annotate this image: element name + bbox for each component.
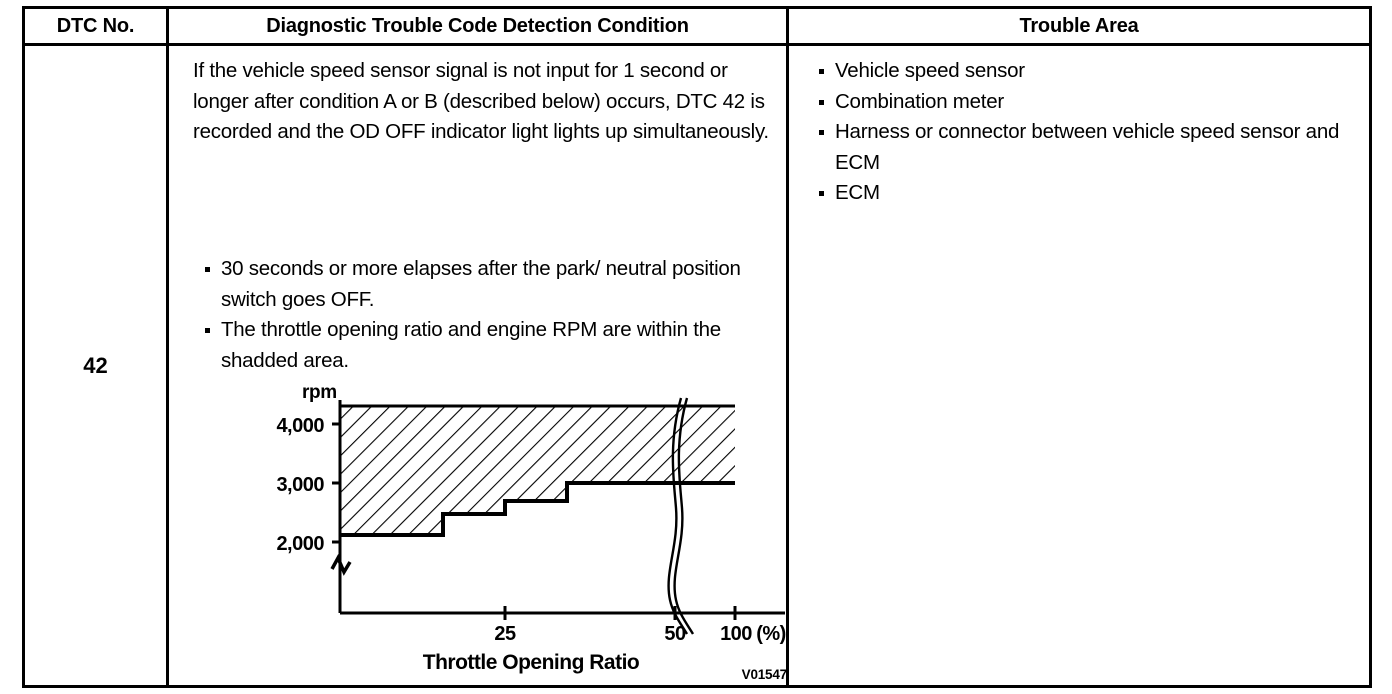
- dtc-table: DTC No. Diagnostic Trouble Code Detectio…: [22, 6, 1372, 688]
- list-item: The throttle opening ratio and engine RP…: [199, 315, 781, 376]
- list-item: Vehicle speed sensor: [813, 56, 1365, 87]
- list-item: ECM: [813, 178, 1365, 209]
- y-tick-label-3000: 3,000: [276, 474, 324, 496]
- x-tick-label-100: 100: [720, 623, 752, 645]
- table-header-row: DTC No. Diagnostic Trouble Code Detectio…: [25, 9, 1369, 46]
- cell-dtc-no: 42: [25, 46, 166, 685]
- detection-condition-bullets: 30 seconds or more elapses after the par…: [199, 254, 781, 376]
- dtc-number-value: 42: [83, 353, 107, 379]
- cell-detection-condition: If the vehicle speed sensor signal is no…: [166, 46, 786, 685]
- list-item: 30 seconds or more elapses after the par…: [199, 254, 781, 315]
- cell-trouble-area: Vehicle speed sensor Combination meter H…: [786, 46, 1369, 685]
- trouble-area-list: Vehicle speed sensor Combination meter H…: [813, 56, 1365, 209]
- y-tick-label-2000: 2,000: [276, 533, 324, 555]
- x-tick-label-25: 25: [494, 623, 516, 645]
- header-trouble-area: Trouble Area: [786, 9, 1369, 43]
- list-item: Combination meter: [813, 87, 1365, 118]
- chart-xlabel: Throttle Opening Ratio: [423, 651, 639, 674]
- chart-svg: rpm: [244, 386, 789, 686]
- chart-ylabel: rpm: [302, 386, 337, 403]
- x-tick-label-50: 50: [664, 623, 686, 645]
- detection-condition-paragraph: If the vehicle speed sensor signal is no…: [193, 56, 771, 148]
- header-dtc-no: DTC No.: [25, 9, 166, 43]
- y-tick-label-4000: 4,000: [276, 415, 324, 437]
- header-detection-condition: Diagnostic Trouble Code Detection Condit…: [166, 9, 786, 43]
- rpm-throttle-chart: rpm: [244, 386, 789, 686]
- list-item: Harness or connector between vehicle spe…: [813, 117, 1365, 178]
- table-body-row: 42 If the vehicle speed sensor signal is…: [25, 46, 1369, 685]
- x-axis-unit-label: (%): [756, 623, 786, 645]
- figure-id-label: V01547: [742, 667, 787, 682]
- service-manual-page: DTC No. Diagnostic Trouble Code Detectio…: [0, 0, 1392, 694]
